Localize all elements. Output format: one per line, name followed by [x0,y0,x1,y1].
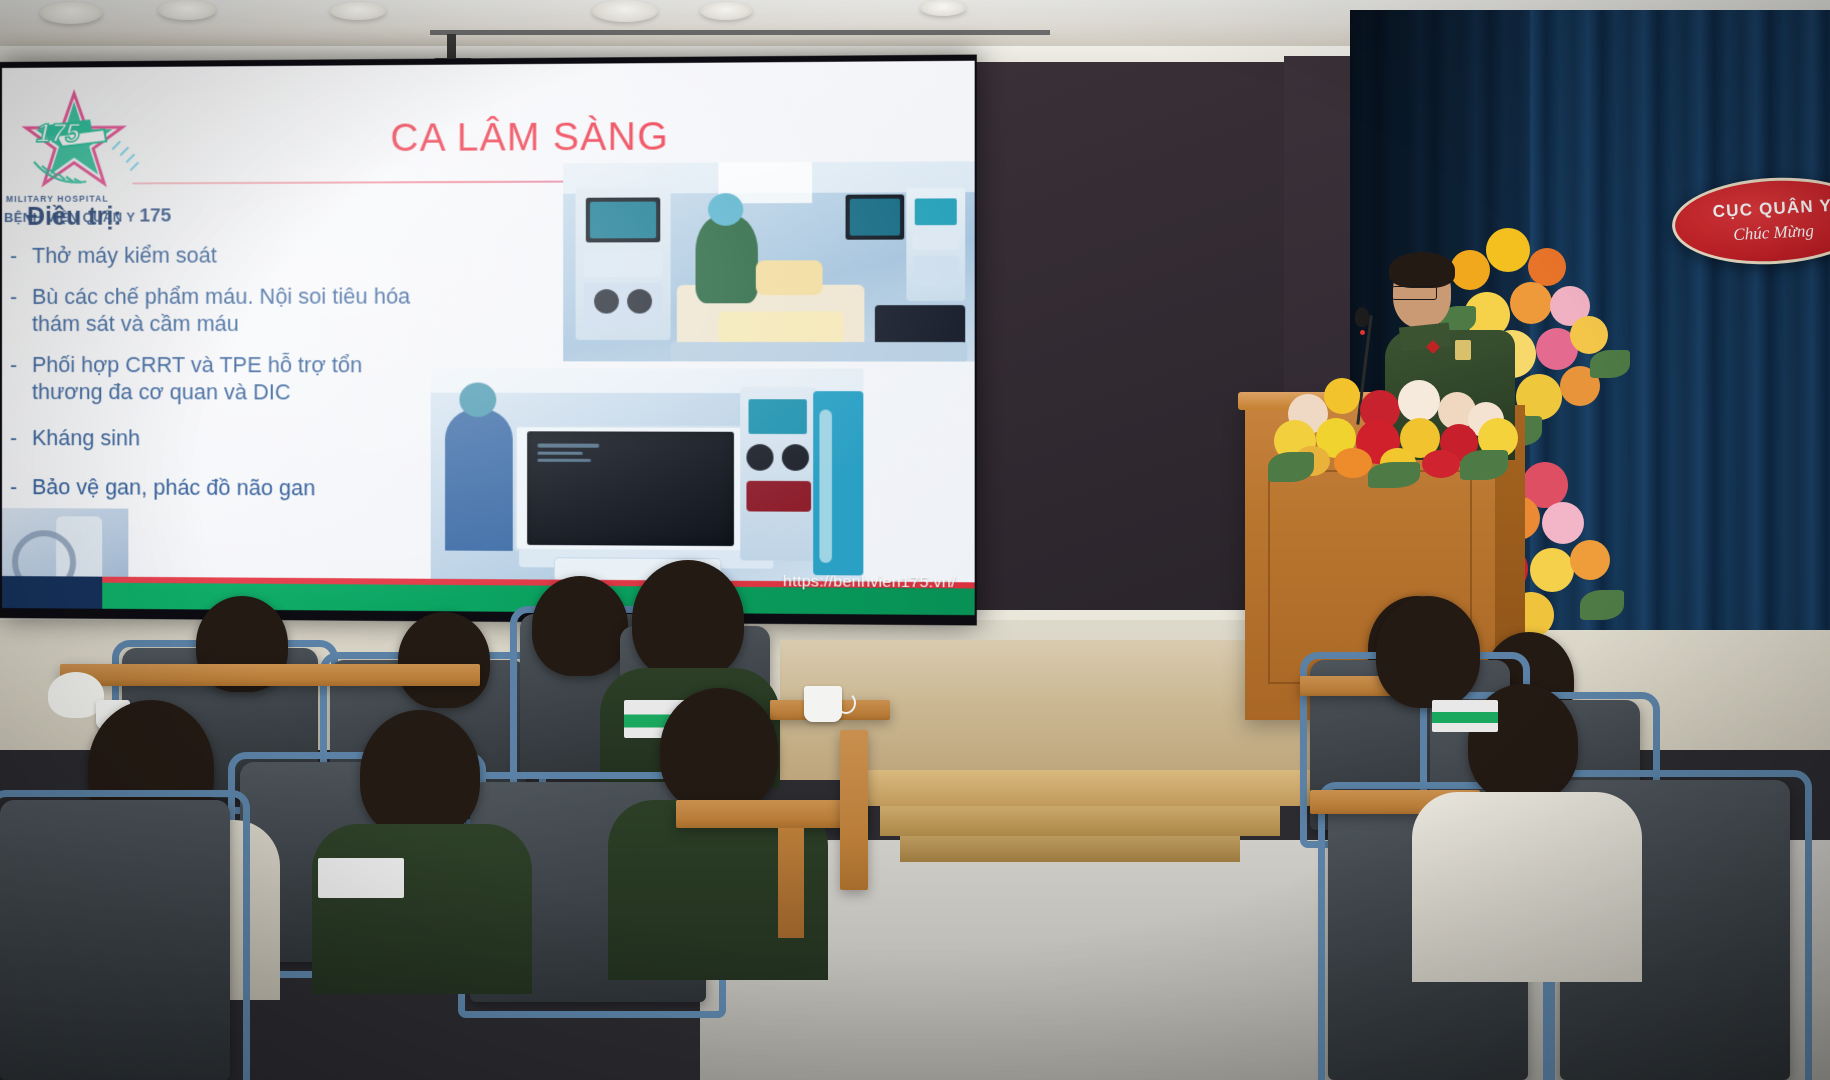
ceiling-rail [430,30,1050,35]
audience-head [1376,596,1480,708]
presentation-slide: 175 MILITARY HOSPITAL BỆNH VIỆN QUÂN Y 1… [2,61,975,615]
list-item-text: Bù các chế phẩm máu. Nội soi tiêu hóa th… [32,284,410,336]
bullet-marker: - [10,243,17,271]
slide-bullet-list: - Thở máy kiểm soát - Bù các chế phẩm má… [4,242,439,517]
bullet-marker: - [10,474,17,502]
ceiling-light [700,2,752,20]
conference-hall-photo: 175 MILITARY HOSPITAL BỆNH VIỆN QUÂN Y 1… [0,0,1830,1080]
list-item-text: Kháng sinh [32,426,140,450]
banner-line-1: CỤC QUÂN Y [1674,194,1830,224]
teacup-handle [836,692,856,714]
bullet-marker: - [10,425,17,453]
audience-head [398,612,490,708]
list-item: - Thở máy kiểm soát [4,242,335,270]
list-item: - Bù các chế phẩm máu. Nội soi tiêu hóa … [4,283,432,339]
desk-leg [778,828,804,938]
audience-shoulders [312,824,532,994]
slide-section-heading: Điều trị: [27,203,122,232]
stage-step [900,836,1240,862]
ceiling-light [330,2,386,20]
slide-photo-icu-crrt [563,161,975,361]
list-item: - Kháng sinh [4,425,335,454]
slide-photo-icu-workstation [431,368,864,586]
dark-wall-panel [966,62,1284,610]
audience-head [660,688,778,812]
audience-desk [60,664,480,686]
projector-mount [447,34,456,60]
bullet-marker: - [10,352,17,380]
microphone-icon [1355,307,1369,327]
bullet-marker: - [10,283,17,311]
ceiling-light [40,2,102,24]
glasses-icon [1392,286,1437,300]
footer-left-block [2,576,106,609]
microphone-led [1360,330,1365,335]
rank-insignia [1455,340,1471,360]
list-item-text: Phối hợp CRRT và TPE hỗ trợ tổn thương đ… [32,353,362,405]
audience-head [532,576,628,676]
stage-step [880,806,1280,836]
audience-desk [840,730,868,890]
audience-desk [676,800,866,828]
list-item: - Phối hợp CRRT và TPE hỗ trợ tổn thương… [4,352,437,408]
list-item: - Bảo vệ gan, phác đồ não gan [4,474,437,503]
audience-shoulders [1412,792,1642,982]
flower-arrangement [1272,358,1522,473]
list-item-text: Bảo vệ gan, phác đồ não gan [32,475,315,500]
audience-head [360,710,480,838]
ceiling-light [158,0,216,20]
list-item-text: Thở máy kiểm soát [32,243,217,268]
ceiling-light [592,0,658,22]
svg-text:175: 175 [34,118,84,148]
audience-head [632,560,744,680]
seat-name-card [318,858,404,898]
seat-name-card [1432,700,1498,732]
logo-numeral: 175 [139,205,171,226]
ceiling-light [920,0,966,16]
projection-screen: 175 MILITARY HOSPITAL BỆNH VIỆN QUÂN Y 1… [0,55,977,626]
stage-front-edge [860,770,1330,806]
slide-title: CA LÂM SÀNG [203,115,861,162]
speaker-hair [1389,252,1455,288]
slide-url: https://benhvien175.vn/ [783,573,956,593]
chair-frame [0,790,250,1080]
